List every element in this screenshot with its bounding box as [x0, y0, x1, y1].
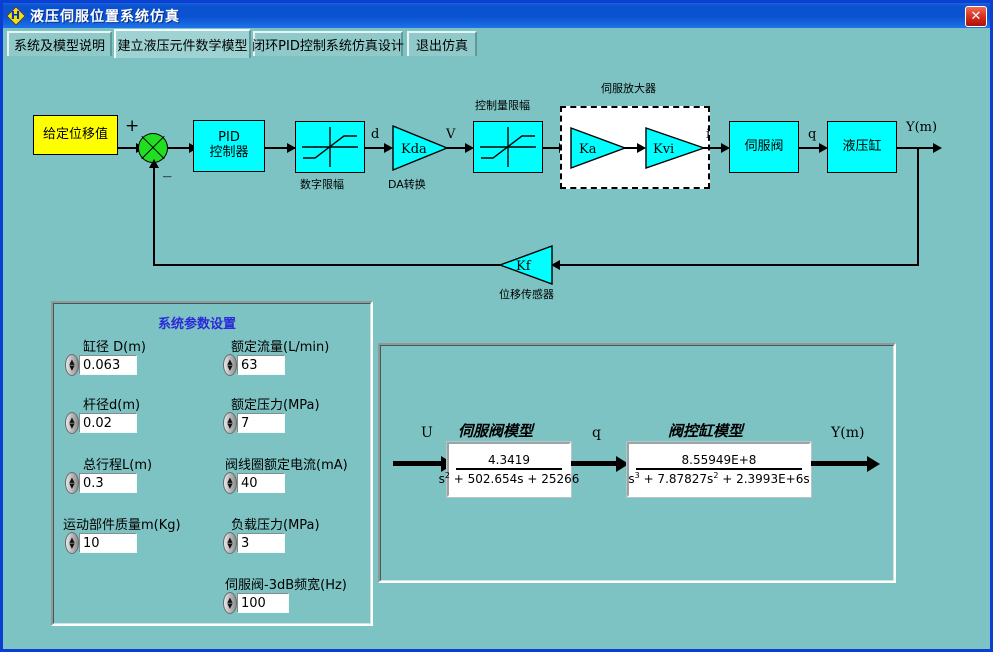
spinner-down-arrow[interactable]: ▼: [69, 365, 74, 371]
spinner-total-stroke[interactable]: ▲ ▼: [65, 472, 79, 494]
spinner-down-arrow[interactable]: ▼: [227, 365, 232, 371]
close-icon[interactable]: ✕: [965, 6, 987, 27]
label-load-pressure: 负载压力(MPa): [231, 514, 320, 533]
arrow-cylinder-model-output: [867, 456, 880, 472]
block-gain-ka-label: Ka: [579, 142, 597, 157]
block-feedback-gain-kf[interactable]: Kf: [498, 244, 554, 286]
block-servo-valve[interactable]: 伺服阀: [729, 121, 799, 173]
saturation-curve-icon: [298, 124, 362, 170]
tab-build-hydraulic-math-model[interactable]: 建立液压元件数学模型: [114, 29, 251, 58]
wire-cylinder-model-output: [811, 461, 869, 466]
caption-control-limiter: 控制量限幅: [475, 97, 530, 113]
input-total-stroke[interactable]: 0.3: [79, 473, 137, 493]
label-rated-pressure: 额定压力(MPa): [231, 394, 320, 413]
wire-feedback-left-segment: [153, 264, 500, 266]
caption-da-converter: DA转换: [388, 176, 426, 192]
model-signal-label-q: q: [592, 425, 601, 441]
input-load-pressure[interactable]: 3: [237, 533, 285, 553]
input-rated-flow[interactable]: 63: [237, 355, 285, 375]
wire-feedback-up: [153, 166, 155, 266]
block-setpoint[interactable]: 给定位移值: [33, 115, 118, 155]
block-hydraulic-cylinder[interactable]: 液压缸: [827, 121, 897, 173]
signal-label-d: d: [371, 127, 379, 142]
spinner-rated-flow[interactable]: ▲ ▼: [223, 354, 237, 376]
block-gain-kvi-label: Kvi: [653, 142, 674, 157]
input-valve-coil-rated-current[interactable]: 40: [237, 473, 285, 493]
hydraulic-app-icon: H: [7, 7, 24, 24]
caption-displacement-sensor: 位移传感器: [499, 286, 554, 302]
input-rated-pressure[interactable]: 7: [237, 413, 285, 433]
window-title: 液压伺服位置系统仿真: [30, 6, 180, 26]
spinner-down-arrow[interactable]: ▼: [227, 543, 232, 549]
input-servo-valve-bandwidth[interactable]: 100: [237, 593, 289, 613]
block-feedback-gain-kf-label: Kf: [516, 259, 532, 274]
block-da-gain-label: Kda: [401, 142, 427, 157]
label-servo-valve-bandwidth: 伺服阀-3dB频宽(Hz): [225, 574, 347, 593]
saturation-curve-icon: [476, 124, 540, 170]
sign-minus: _: [163, 158, 172, 178]
signal-label-y-output: Y(m): [906, 120, 937, 135]
model-input-label-u: U: [421, 425, 433, 441]
tab-strip: 系统及模型说明 建立液压元件数学模型 闭环PID控制系统仿真设计 退出仿真: [3, 28, 990, 58]
label-rated-flow: 额定流量(L/min): [231, 336, 329, 355]
spinner-rod-diameter[interactable]: ▲ ▼: [65, 412, 79, 434]
label-rod-diameter: 杆径d(m): [83, 394, 140, 413]
signal-label-v: V: [446, 127, 455, 142]
model-title-valve-cylinder: 阀控缸模型: [668, 420, 743, 441]
spinner-down-arrow[interactable]: ▼: [69, 423, 74, 429]
system-parameters-panel-title: 系统参数设置: [158, 313, 236, 332]
wire-feedback-down: [917, 147, 919, 266]
spinner-down-arrow[interactable]: ▼: [227, 603, 232, 609]
label-moving-mass: 运动部件质量m(Kg): [63, 514, 181, 533]
spinner-down-arrow[interactable]: ▼: [69, 483, 74, 489]
spinner-load-pressure[interactable]: ▲ ▼: [223, 532, 237, 554]
model-denominator-valve-cylinder: s3 + 7.87827s2 + 2.3993E+6s: [628, 470, 809, 486]
wire-feedback-right-segment: [559, 264, 919, 266]
spinner-moving-mass[interactable]: ▲ ▼: [65, 532, 79, 554]
tab-exit-simulation[interactable]: 退出仿真: [407, 31, 477, 56]
signal-label-q: q: [808, 127, 816, 142]
model-denominator-servo-valve: s2 + 502.654s + 25266: [439, 470, 580, 486]
wire-servo-valve-to-cylinder-model: [571, 461, 619, 466]
label-valve-coil-rated-current: 阀线圈额定电流(mA): [225, 454, 348, 473]
label-cylinder-bore: 缸径 D(m): [83, 336, 146, 355]
den-mid: + 7.87827s: [640, 472, 714, 486]
caption-servo-amplifier: 伺服放大器: [601, 80, 656, 96]
block-pid-label-line1: PID: [218, 131, 240, 146]
block-gain-ka[interactable]: Ka: [569, 126, 627, 170]
spinner-cylinder-bore[interactable]: ▲ ▼: [65, 354, 79, 376]
arrow-feedback-into-sum: [149, 159, 159, 168]
block-digital-limiter[interactable]: [295, 121, 365, 173]
model-output-label-y: Y(m): [831, 425, 864, 441]
simulation-canvas: 给定位移值 + _ PID 控制器 数字限幅: [3, 58, 990, 649]
spinner-rated-pressure[interactable]: ▲ ▼: [223, 412, 237, 434]
block-pid-label-line2: 控制器: [209, 146, 248, 161]
spinner-down-arrow[interactable]: ▼: [227, 483, 232, 489]
application-window: H 液压伺服位置系统仿真 ✕ 系统及模型说明 建立液压元件数学模型 闭环PID控…: [0, 0, 993, 652]
caption-digital-limiter: 数字限幅: [300, 176, 344, 192]
spinner-down-arrow[interactable]: ▼: [227, 423, 232, 429]
model-numerator-valve-cylinder: 8.55949E+8: [682, 453, 757, 468]
model-box-valve-cylinder[interactable]: 8.55949E+8 s3 + 7.87827s2 + 2.3993E+6s: [627, 442, 811, 497]
tab-system-model-description[interactable]: 系统及模型说明: [7, 31, 112, 56]
input-moving-mass[interactable]: 10: [79, 533, 137, 553]
block-gain-kvi[interactable]: Kvi: [644, 126, 706, 170]
block-pid-controller[interactable]: PID 控制器: [193, 120, 265, 172]
model-box-servo-valve[interactable]: 4.3419 s2 + 502.654s + 25266: [447, 442, 571, 497]
wire-setpoint-to-sum: [118, 147, 138, 149]
input-rod-diameter[interactable]: 0.02: [79, 413, 137, 433]
input-cylinder-bore[interactable]: 0.063: [79, 355, 137, 375]
den-rest: + 2.3993E+6s: [718, 472, 809, 486]
spinner-servo-valve-bandwidth[interactable]: ▲ ▼: [223, 592, 237, 614]
label-total-stroke: 总行程L(m): [83, 454, 152, 473]
model-numerator-servo-valve: 4.3419: [488, 453, 530, 468]
block-da-converter[interactable]: Kda: [391, 124, 449, 172]
spinner-down-arrow[interactable]: ▼: [69, 543, 74, 549]
block-control-limiter[interactable]: [473, 121, 543, 173]
signal-label-i: i: [706, 127, 710, 142]
wire-u-to-servo-valve-model: [393, 461, 443, 466]
tab-closed-loop-pid-design[interactable]: 闭环PID控制系统仿真设计: [253, 31, 403, 56]
title-bar: H 液压伺服位置系统仿真 ✕: [3, 3, 990, 28]
den-rest: + 502.654s + 25266: [450, 472, 579, 486]
spinner-valve-coil-rated-current[interactable]: ▲ ▼: [223, 472, 237, 494]
sign-plus: +: [125, 116, 139, 136]
model-title-servo-valve: 伺服阀模型: [458, 420, 533, 441]
arrow-output: [933, 143, 942, 153]
